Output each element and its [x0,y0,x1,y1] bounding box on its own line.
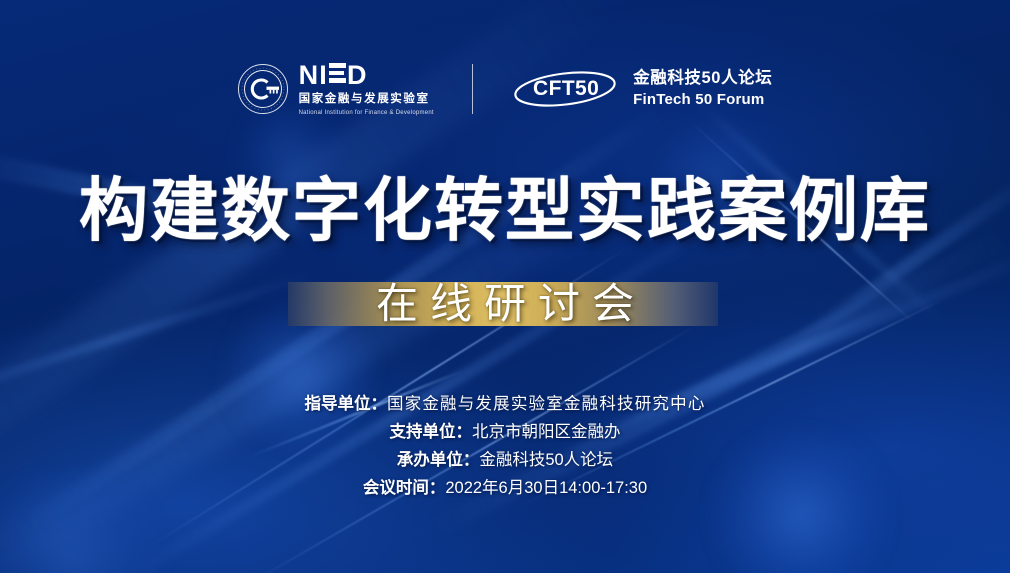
nifd-wordmark: NI D [299,62,434,89]
nifd-wordmark-before: NI [299,62,328,89]
info-line-host: 承办单位：金融科技50人论坛 [0,446,1010,474]
info-value: 金融科技50人论坛 [479,451,613,469]
info-value: 北京市朝阳区金融办 [472,423,621,441]
nifd-name-cn: 国家金融与发展实验室 [299,94,434,106]
cft50-logo[interactable]: CFT50 金融科技50人论坛 FinTech 50 Forum [511,69,772,108]
nifd-seal-icon [238,64,288,114]
cft50-oval-icon: CFT50 [511,70,619,108]
nifd-wordmark-after: D [347,62,368,89]
nifd-stylized-f-icon [329,62,346,89]
info-label: 承办单位： [397,451,480,469]
info-block: 指导单位：国家金融与发展实验室金融科技研究中心 支持单位：北京市朝阳区金融办 承… [0,390,1010,502]
info-label: 支持单位： [390,423,473,441]
info-line-datetime: 会议时间：2022年6月30日14:00-17:30 [0,474,1010,502]
info-value: 2022年6月30日14:00-17:30 [445,479,647,497]
info-value: 国家金融与发展实验室金融科技研究中心 [387,395,706,413]
nifd-logo[interactable]: NI D 国家金融与发展实验室 National Institution for… [238,62,434,116]
cft50-badge-text: CFT50 [511,70,619,108]
logo-bar: NI D 国家金融与发展实验室 National Institution for… [0,62,1010,116]
info-label: 会议时间： [363,479,446,497]
poster-canvas: NI D 国家金融与发展实验室 National Institution for… [0,0,1010,573]
info-label: 指导单位： [304,395,387,413]
logo-divider [472,64,473,114]
info-line-organizer-guide: 指导单位：国家金融与发展实验室金融科技研究中心 [0,390,1010,418]
cft50-name-en: FinTech 50 Forum [633,91,772,108]
nifd-name-en: National Institution for Finance & Devel… [299,110,434,116]
cft50-name-cn: 金融科技50人论坛 [633,69,772,88]
page-subtitle: 在线研讨会 [0,277,1010,331]
page-title: 构建数字化转型实践案例库 [0,176,1010,245]
info-line-supporter: 支持单位：北京市朝阳区金融办 [0,418,1010,446]
